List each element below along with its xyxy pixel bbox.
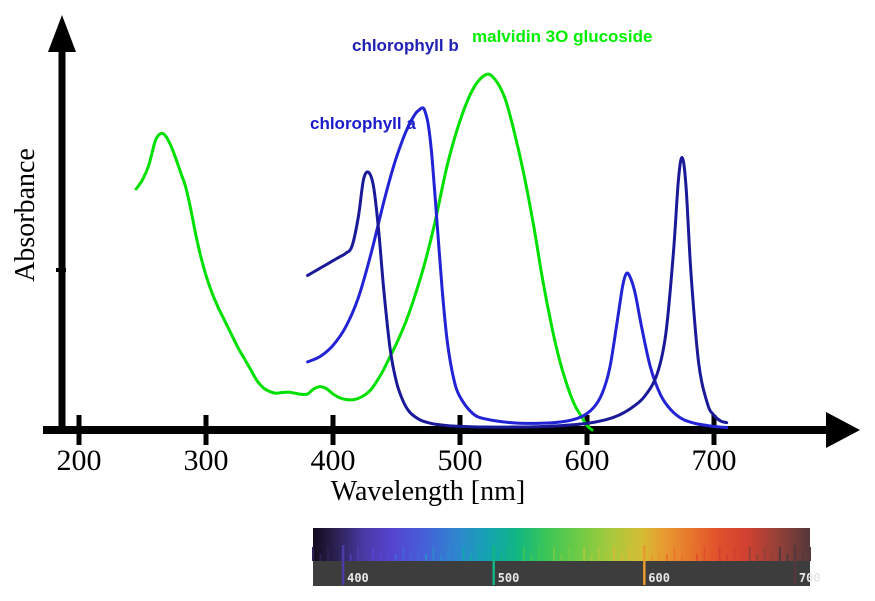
y-axis-title: Absorbance	[10, 148, 41, 282]
x-tick-label-200: 200	[57, 444, 102, 477]
data-series-group	[136, 74, 727, 430]
curve-chlorophyll-a	[308, 158, 727, 428]
x-tick-label-600: 600	[565, 444, 610, 477]
series-label-malvidin-3o-glucoside: malvidin 3O glucoside	[472, 27, 652, 46]
x-tick-labels: 200 300 400 500 600 700	[57, 444, 737, 477]
x-axis-title: Wavelength [nm]	[331, 476, 525, 507]
y-axis	[48, 15, 76, 432]
series-label-chlorophyll-b: chlorophyll b	[352, 36, 459, 55]
spectrum-label-600: 600	[648, 571, 670, 585]
spectrum-label-400: 400	[347, 571, 369, 585]
x-tick-label-300: 300	[184, 444, 229, 477]
x-tick-label-700: 700	[692, 444, 737, 477]
plot-canvas: 200 300 400 500 600 700 Wavelength [nm] …	[0, 0, 875, 601]
curve-chlorophyll-b	[308, 108, 727, 428]
x-tick-label-400: 400	[311, 444, 356, 477]
axes-group	[43, 15, 860, 448]
x-axis	[43, 412, 860, 448]
spectrum-label-500: 500	[498, 571, 520, 585]
visible-spectrum-bar: 400500600700	[313, 528, 821, 586]
series-label-chlorophyll-a: chlorophyll a	[310, 114, 416, 133]
x-tick-label-500: 500	[438, 444, 483, 477]
absorbance-spectra-figure: 200 300 400 500 600 700 Wavelength [nm] …	[0, 0, 875, 601]
spectrum-label-700: 700	[799, 571, 821, 585]
